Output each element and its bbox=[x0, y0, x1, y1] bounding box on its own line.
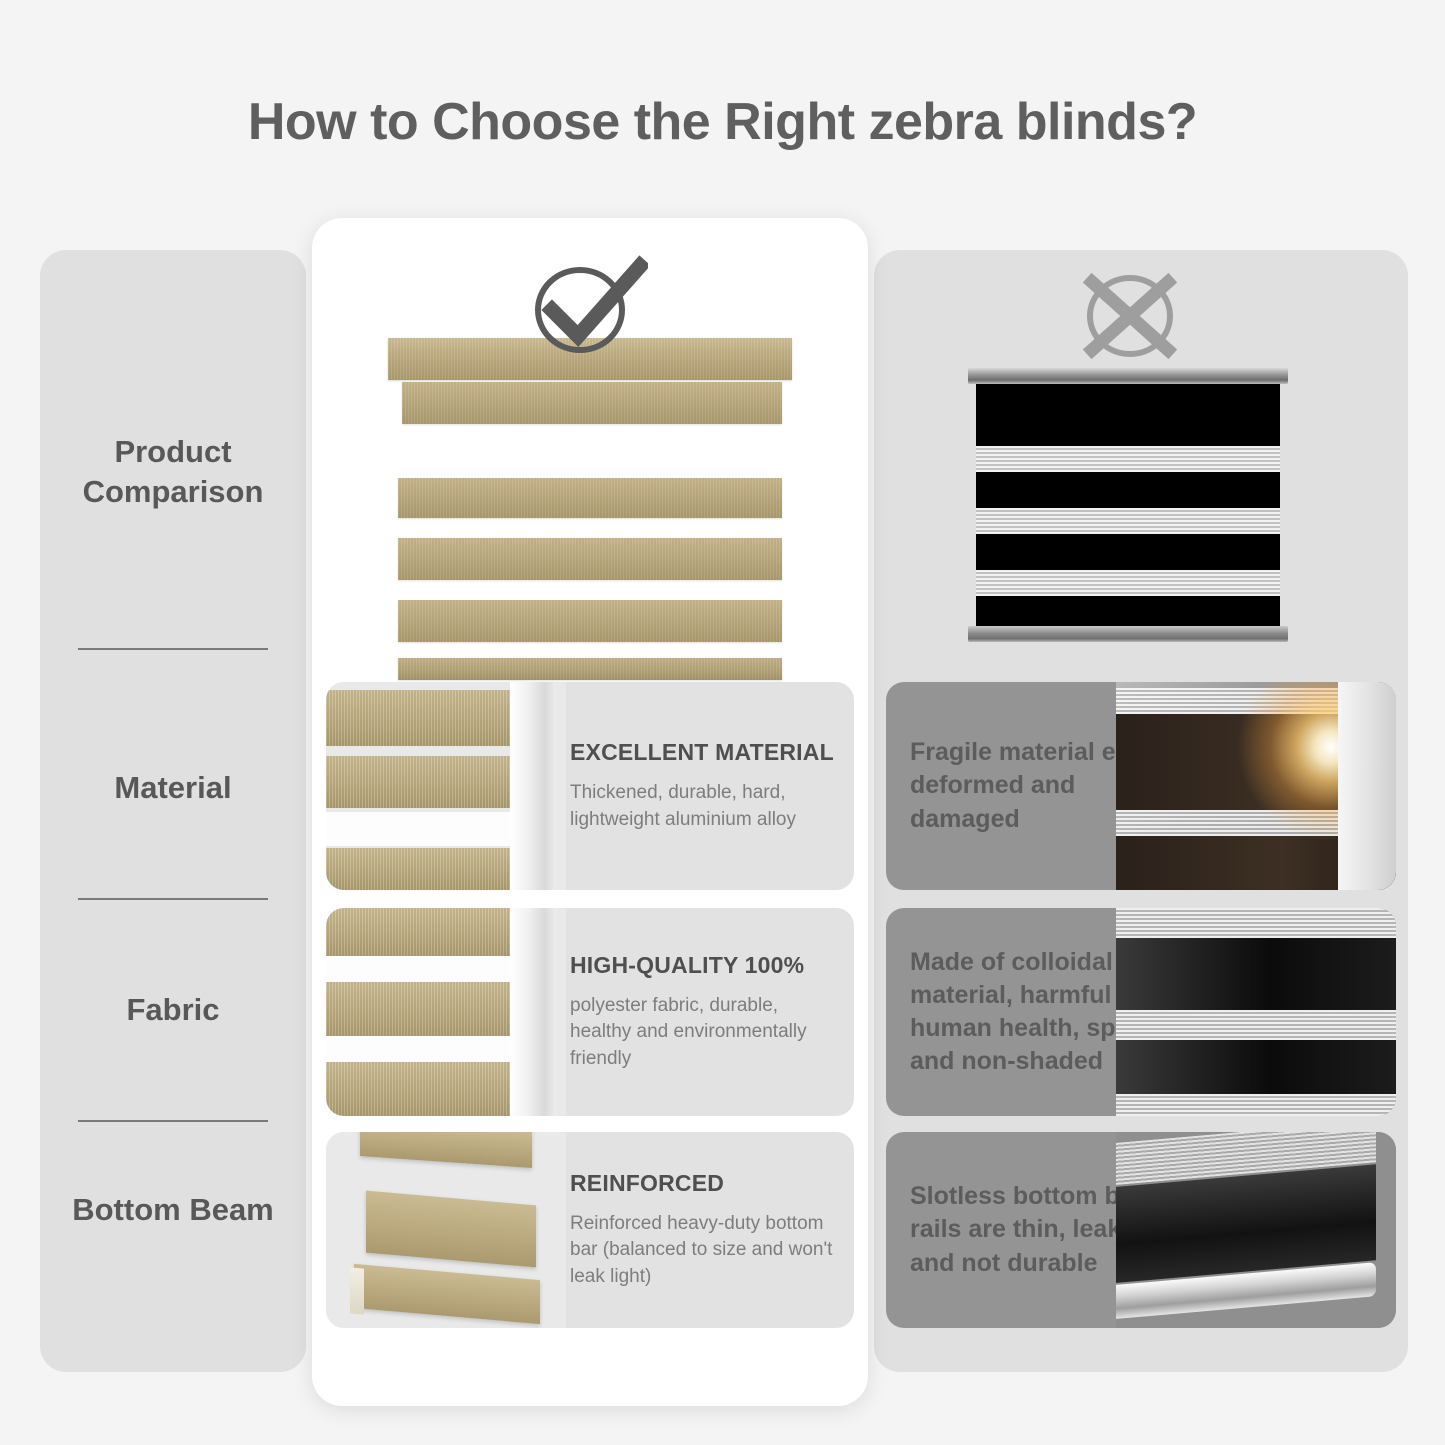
good-feature-card-bottom-beam: REINFORCED Reinforced heavy-duty bottom … bbox=[326, 1132, 854, 1328]
bad-feature-card-fabric: Made of colloidal material, harmful to h… bbox=[886, 908, 1396, 1116]
page-title: How to Choose the Right zebra blinds? bbox=[0, 92, 1445, 152]
bottom-beam-photo bbox=[326, 1132, 566, 1328]
headrail bbox=[968, 368, 1288, 384]
row-divider bbox=[78, 1120, 268, 1122]
fabric-photo bbox=[1116, 908, 1396, 1116]
fabric-photo bbox=[326, 908, 566, 1116]
bottom-rail bbox=[968, 626, 1288, 642]
row-divider bbox=[78, 898, 268, 900]
row-label-fabric: Fabric bbox=[40, 990, 306, 1030]
blind-band bbox=[402, 382, 782, 424]
blind-band bbox=[398, 600, 782, 642]
blind-band bbox=[398, 538, 782, 580]
material-photo bbox=[326, 682, 566, 890]
row-label-material: Material bbox=[40, 768, 306, 808]
good-product-image bbox=[388, 338, 792, 668]
bad-product-image bbox=[968, 368, 1288, 642]
feature-heading: HIGH-QUALITY 100% bbox=[570, 952, 840, 979]
cross-circle-icon bbox=[1072, 268, 1188, 364]
feature-heading: EXCELLENT MATERIAL bbox=[570, 739, 840, 766]
good-feature-card-fabric: HIGH-QUALITY 100% polyester fabric, dura… bbox=[326, 908, 854, 1116]
sheer-stripe bbox=[976, 446, 1280, 472]
bad-feature-card-material: Fragile material easily deformed and dam… bbox=[886, 682, 1396, 890]
blind-fabric bbox=[976, 384, 1280, 626]
check-circle-icon bbox=[522, 252, 648, 356]
row-divider bbox=[78, 648, 268, 650]
bad-feature-card-bottom-beam: Slotless bottom beam rails are thin, lea… bbox=[886, 1132, 1396, 1328]
blind-band bbox=[398, 478, 782, 518]
feature-heading: REINFORCED bbox=[570, 1170, 840, 1197]
feature-body: polyester fabric, durable, healthy and e… bbox=[570, 993, 840, 1072]
row-label-product-comparison: Product Comparison bbox=[40, 432, 306, 513]
feature-body: Thickened, durable, hard, lightweight al… bbox=[570, 780, 840, 832]
sheer-stripe bbox=[976, 570, 1280, 596]
material-photo bbox=[1116, 682, 1396, 890]
good-feature-card-material: EXCELLENT MATERIAL Thickened, durable, h… bbox=[326, 682, 854, 890]
bottom-rail bbox=[398, 658, 782, 680]
feature-body: Reinforced heavy-duty bottom bar (balanc… bbox=[570, 1211, 840, 1290]
bottom-beam-photo bbox=[1116, 1132, 1396, 1328]
row-label-bottom-beam: Bottom Beam bbox=[40, 1190, 306, 1230]
sheer-stripe bbox=[976, 508, 1280, 534]
